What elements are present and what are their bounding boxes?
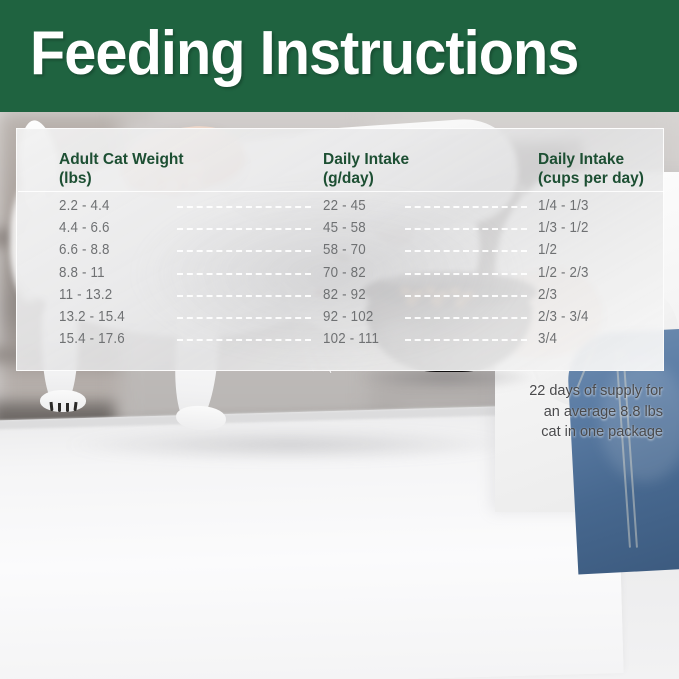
cell-grams: 45 - 58 bbox=[323, 217, 366, 239]
table-row: 2.2 - 4.422 - 451/4 - 1/3 bbox=[17, 195, 663, 217]
cell-weight: 2.2 - 4.4 bbox=[59, 195, 110, 217]
leader-dots bbox=[405, 228, 527, 230]
table-row: 8.8 - 1170 - 821/2 - 2/3 bbox=[17, 262, 663, 284]
cat-hind-paw bbox=[40, 390, 86, 412]
cell-cups: 3/4 bbox=[538, 328, 557, 350]
column-header-grams-text: Daily Intake bbox=[323, 151, 409, 168]
leader-dots bbox=[405, 295, 527, 297]
leader-dots bbox=[405, 339, 527, 341]
cell-cups: 1/3 - 1/2 bbox=[538, 217, 589, 239]
page-title: Feeding Instructions bbox=[30, 18, 625, 90]
header-divider bbox=[18, 191, 664, 192]
cell-weight: 15.4 - 17.6 bbox=[59, 328, 125, 350]
leader-dots bbox=[405, 273, 527, 275]
leader-dots bbox=[177, 250, 311, 252]
cell-cups: 1/2 bbox=[538, 239, 557, 261]
column-header-cups-text: Daily Intake bbox=[538, 151, 624, 168]
leader-dots bbox=[177, 228, 311, 230]
leader-dots bbox=[405, 206, 527, 208]
cell-cups: 1/2 - 2/3 bbox=[538, 262, 589, 284]
cell-grams: 92 - 102 bbox=[323, 306, 373, 328]
column-header-weight: Adult Cat Weight(lbs) bbox=[59, 151, 184, 188]
column-header-grams-unit: (g/day) bbox=[323, 170, 374, 187]
leader-dots bbox=[177, 317, 311, 319]
leader-dots bbox=[177, 339, 311, 341]
table-row: 6.6 - 8.858 - 701/2 bbox=[17, 239, 663, 261]
table-row: 4.4 - 6.645 - 581/3 - 1/2 bbox=[17, 217, 663, 239]
cell-grams: 22 - 45 bbox=[323, 195, 366, 217]
leader-dots bbox=[405, 250, 527, 252]
cell-grams: 102 - 111 bbox=[323, 328, 379, 350]
column-header-grams: Daily Intake(g/day) bbox=[323, 151, 409, 188]
cell-weight: 4.4 - 6.6 bbox=[59, 217, 110, 239]
leader-dots bbox=[177, 295, 311, 297]
cat-claw bbox=[58, 403, 61, 412]
cell-grams: 82 - 92 bbox=[323, 284, 366, 306]
column-header-cups-unit: (cups per day) bbox=[538, 170, 644, 187]
cat-claw bbox=[66, 403, 69, 412]
cell-grams: 58 - 70 bbox=[323, 239, 366, 261]
leader-dots bbox=[405, 317, 527, 319]
column-header-weight-unit: (lbs) bbox=[59, 170, 92, 187]
column-header-weight-text: Adult Cat Weight bbox=[59, 151, 184, 168]
supply-note: 22 days of supply for an average 8.8 lbs… bbox=[403, 381, 663, 443]
table-row: 11 - 13.282 - 922/3 bbox=[17, 284, 663, 306]
header-banner: Feeding Instructions bbox=[0, 0, 679, 112]
leader-dots bbox=[177, 273, 311, 275]
table-row: 15.4 - 17.6102 - 1113/4 bbox=[17, 328, 663, 350]
column-header-cups: Daily Intake(cups per day) bbox=[538, 151, 644, 188]
table-body: 2.2 - 4.422 - 451/4 - 1/34.4 - 6.645 - 5… bbox=[17, 195, 663, 350]
cell-weight: 13.2 - 15.4 bbox=[59, 306, 125, 328]
cell-weight: 6.6 - 8.8 bbox=[59, 239, 110, 261]
cell-weight: 8.8 - 11 bbox=[59, 262, 105, 284]
leader-dots bbox=[177, 206, 311, 208]
cell-cups: 2/3 - 3/4 bbox=[538, 306, 589, 328]
feeding-instructions-image: Feeding Instructions Adult Cat Weight(lb… bbox=[0, 0, 679, 679]
cell-grams: 70 - 82 bbox=[323, 262, 366, 284]
cell-cups: 2/3 bbox=[538, 284, 557, 306]
cell-weight: 11 - 13.2 bbox=[59, 284, 112, 306]
table-header-row: Adult Cat Weight(lbs) Daily Intake(g/day… bbox=[17, 129, 663, 192]
feeding-table-panel: Adult Cat Weight(lbs) Daily Intake(g/day… bbox=[16, 128, 664, 371]
cell-cups: 1/4 - 1/3 bbox=[538, 195, 589, 217]
table-row: 13.2 - 15.492 - 1022/3 - 3/4 bbox=[17, 306, 663, 328]
